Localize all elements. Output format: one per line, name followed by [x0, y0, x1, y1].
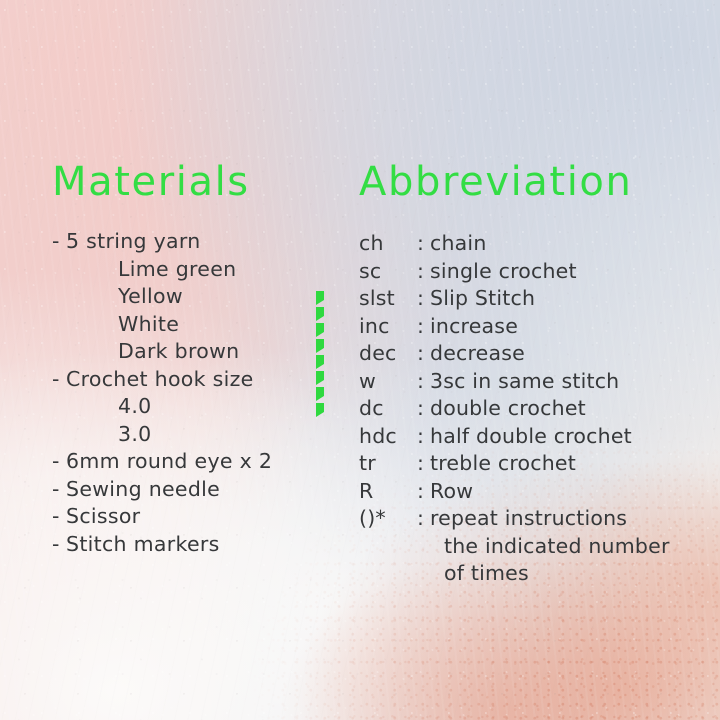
list-item: -Scissor [52, 503, 272, 531]
list-item: -Stitch markers [52, 531, 272, 559]
bullet-dash: - [52, 228, 66, 256]
list-item: -5 string yarn [52, 228, 272, 256]
list-item-label: 6mm round eye x 2 [66, 449, 272, 473]
abbreviation-key: inc [359, 313, 417, 341]
abbreviation-key: w [359, 368, 417, 396]
abbreviation-key: ch [359, 230, 417, 258]
abbreviation-separator: : [417, 505, 430, 533]
abbreviation-value: repeat instructions [430, 505, 670, 533]
bullet-dash: - [52, 531, 66, 559]
list-item-label: 3.0 [118, 422, 152, 446]
list-item: -Crochet hook size [52, 366, 272, 394]
list-item: Lime green [52, 256, 272, 284]
list-item-label: 4.0 [118, 394, 152, 418]
list-item: dc:double crochet [359, 395, 670, 423]
list-item: ()*:repeat instructions [359, 505, 670, 533]
list-item: Yellow [52, 283, 272, 311]
abbreviation-separator: : [417, 395, 430, 423]
abbreviation-value: single crochet [430, 258, 670, 286]
materials-heading: Materials [52, 158, 250, 206]
list-item: hdc:half double crochet [359, 423, 670, 451]
list-item: inc:increase [359, 313, 670, 341]
abbreviation-value: decrease [430, 340, 670, 368]
abbreviation-value: increase [430, 313, 670, 341]
bullet-dash: - [52, 448, 66, 476]
abbreviation-separator: : [417, 285, 430, 313]
abbreviation-key: tr [359, 450, 417, 478]
list-item: Dark brown [52, 338, 272, 366]
list-item: 3.0 [52, 421, 272, 449]
abbreviation-key: R [359, 478, 417, 506]
abbreviation-value: treble crochet [430, 450, 670, 478]
materials-list: -5 string yarn Lime green Yellow White D… [52, 228, 272, 558]
bullet-dash: - [52, 366, 66, 394]
content-layer: Materials -5 string yarn Lime green Yell… [0, 0, 720, 720]
list-item-label: Scissor [66, 504, 140, 528]
abbreviation-continuation-line: of times [359, 560, 670, 588]
abbreviation-value: half double crochet [430, 423, 670, 451]
abbreviation-value: 3sc in same stitch [430, 368, 670, 396]
list-item-label: White [118, 312, 179, 336]
abbreviation-key: slst [359, 285, 417, 313]
list-item-label: Stitch markers [66, 532, 220, 556]
abbreviation-key: dc [359, 395, 417, 423]
abbreviation-value: double crochet [430, 395, 670, 423]
list-item: -Sewing needle [52, 476, 272, 504]
list-item: dec:decrease [359, 340, 670, 368]
abbreviation-continuation-line: the indicated number [359, 533, 670, 561]
list-item: 4.0 [52, 393, 272, 421]
abbreviation-separator: : [417, 423, 430, 451]
abbreviation-separator: : [417, 340, 430, 368]
abbreviation-value: Slip Stitch [430, 285, 670, 313]
list-item: w:3sc in same stitch [359, 368, 670, 396]
abbreviation-heading: Abbreviation [359, 158, 632, 206]
chain-stitch-divider-icon [313, 289, 333, 419]
list-item-label: 5 string yarn [66, 229, 201, 253]
list-item: slst:Slip Stitch [359, 285, 670, 313]
abbreviation-separator: : [417, 368, 430, 396]
bullet-dash: - [52, 503, 66, 531]
bullet-dash: - [52, 476, 66, 504]
abbreviation-list: ch:chain sc:single crochet slst:Slip Sti… [359, 230, 670, 588]
list-item: tr:treble crochet [359, 450, 670, 478]
list-item: -6mm round eye x 2 [52, 448, 272, 476]
abbreviation-key: sc [359, 258, 417, 286]
list-item: R:Row [359, 478, 670, 506]
list-item: sc:single crochet [359, 258, 670, 286]
list-item-label: Sewing needle [66, 477, 220, 501]
list-item-label: Dark brown [118, 339, 239, 363]
abbreviation-key: hdc [359, 423, 417, 451]
abbreviation-separator: : [417, 258, 430, 286]
abbreviation-key: dec [359, 340, 417, 368]
abbreviation-value: Row [430, 478, 670, 506]
list-item: ch:chain [359, 230, 670, 258]
list-item: White [52, 311, 272, 339]
list-item-label: Lime green [118, 257, 236, 281]
abbreviation-separator: : [417, 478, 430, 506]
abbreviation-separator: : [417, 230, 430, 258]
abbreviation-separator: : [417, 450, 430, 478]
pattern-infographic-canvas: Materials -5 string yarn Lime green Yell… [0, 0, 720, 720]
list-item-label: Crochet hook size [66, 367, 254, 391]
list-item-label: Yellow [118, 284, 183, 308]
abbreviation-separator: : [417, 313, 430, 341]
abbreviation-key: ()* [359, 505, 417, 533]
abbreviation-value: chain [430, 230, 670, 258]
